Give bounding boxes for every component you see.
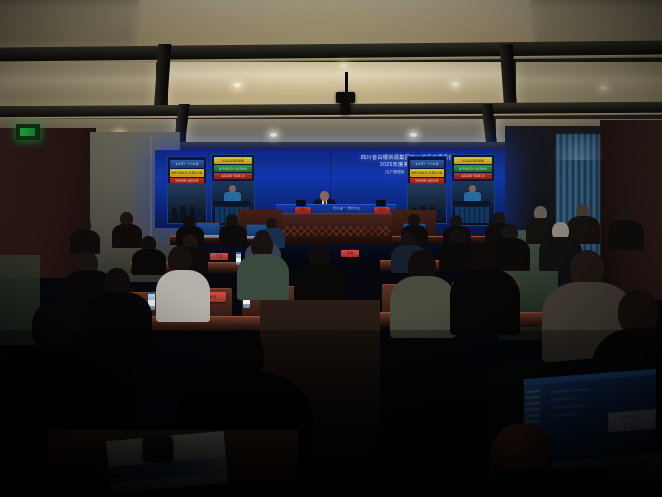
downlight-5	[410, 133, 417, 137]
downlight-8	[340, 64, 347, 68]
presenter-head	[320, 191, 329, 201]
floor-shadow	[0, 330, 662, 497]
led-banner: 集中调度中心实时监测	[454, 165, 492, 172]
curtain-light-glow	[552, 130, 606, 160]
led-banner: 集中调度中心实时监测	[214, 165, 252, 172]
stage-monitor-left	[296, 200, 306, 206]
ceiling-projector-lens	[341, 101, 350, 114]
stage-monitor-right	[376, 200, 386, 206]
led-banner: 强化红线意识 促进安全发展	[170, 169, 204, 177]
stage-podium-molding	[282, 226, 390, 236]
audience-nameplate: 王 强	[210, 253, 228, 260]
led-banner: 隐患排查 治理到位	[170, 178, 204, 184]
ceiling-coffer-top-left	[0, 0, 140, 50]
led-banner: 远程监控 智慧矿山	[214, 173, 252, 179]
downlight-9	[600, 86, 607, 90]
led-banner: 隐患排查 治理到位	[410, 178, 444, 184]
ceiling-coffer-mid-left	[0, 62, 156, 106]
ceiling-coffer-mid-right	[516, 62, 662, 106]
exit-sign-icon	[16, 124, 40, 140]
led-banner: 远程监控 智慧矿山	[454, 173, 492, 179]
led-banner: 安全生产 人人有责	[170, 160, 204, 168]
downlight-2	[452, 82, 459, 86]
wall-panel-right-wood	[600, 120, 662, 300]
led-banner: 矿山安全监控系统	[454, 157, 492, 164]
led-banner: 安全生产 人人有责	[410, 160, 444, 168]
led-headline-line-1: 四川省白银资源集团实业控股有限责任公司	[327, 155, 499, 162]
led-panel-left-outer: 安全生产 人人有责 强化红线意识 促进安全发展 隐患排查 治理到位	[167, 156, 207, 224]
audience-nameplate: 李 明	[341, 250, 359, 257]
stage-screen-badge: 安全第一 预防为主	[333, 206, 361, 210]
led-headline: 四川省白银资源集团实业控股有限责任公司 2025年度第一期“头雁”培训 （生产管…	[327, 155, 499, 175]
led-banner: 强化红线意识 促进安全发展	[410, 169, 444, 177]
conference-hall-photo: 四川省白银资源集团实业控股有限责任公司 2025年度第一期“头雁”培训 （生产管…	[0, 0, 662, 497]
downlight-1	[234, 83, 241, 87]
led-banner: 矿山安全监控系统	[214, 157, 252, 164]
led-headline-line-3: （生产管理部 · 安全监管事业部主办）	[327, 169, 499, 175]
downlight-4	[270, 133, 277, 137]
led-headline-line-2: 2025年度第一期“头雁”培训	[327, 162, 499, 169]
